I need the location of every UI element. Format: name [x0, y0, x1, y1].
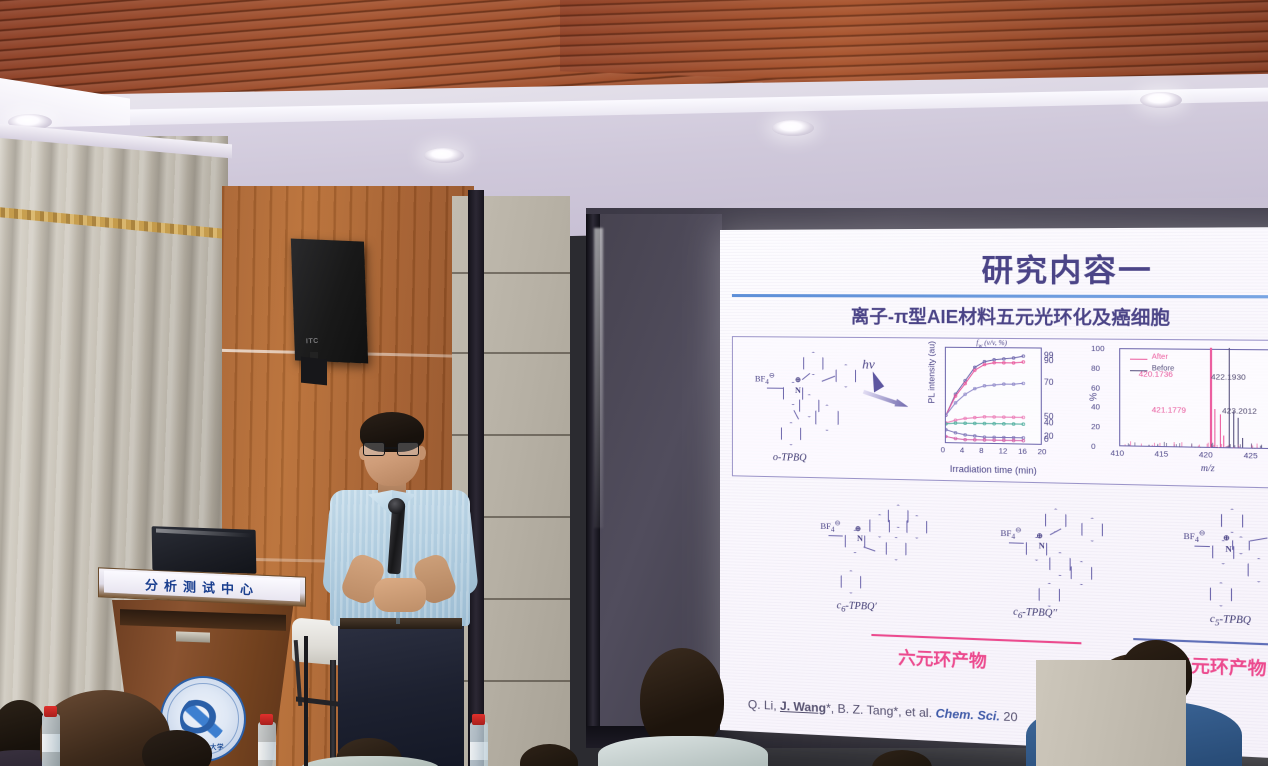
- ms-y-tick: 0: [1091, 442, 1095, 451]
- bottle-label: [42, 734, 60, 752]
- molecule-label-product-3: c5-TPBQ: [1210, 614, 1251, 629]
- glasses-lens-left: [363, 442, 385, 456]
- ms-peak: [1214, 409, 1216, 447]
- bond-link-3: [793, 410, 799, 420]
- pl-series-label: 0: [1044, 435, 1049, 444]
- ms-annotation-421: 421.1779: [1152, 405, 1186, 415]
- counterion-bf4: BF4⊖: [1000, 526, 1021, 542]
- molecule-c6-tpbq-prime: BF4⊖ N ⊕ c6-TPBQ′: [806, 494, 971, 630]
- ms-baseline-noise: [1176, 444, 1177, 446]
- ring-phenyl-bottom: [1039, 583, 1060, 608]
- bottle-cap: [472, 714, 485, 725]
- ms-baseline-noise: [1154, 443, 1155, 446]
- ms-peak: [1233, 412, 1235, 448]
- ms-baseline-noise: [1230, 444, 1231, 447]
- ms-baseline-noise: [1141, 443, 1142, 446]
- wall-dark-recess: [468, 190, 484, 766]
- ms-baseline-noise: [1160, 443, 1161, 446]
- citation: Q. Li, J. Wang*, B. Z. Tang*, et al. Che…: [748, 697, 1018, 724]
- wall-speaker: [291, 238, 368, 363]
- ms-annotation-423: 423.2012: [1222, 406, 1257, 416]
- ms-peak: [1219, 414, 1221, 447]
- molecule-o-tpbq: BF4⊖ N ⊕ o-TPBQ: [739, 341, 908, 477]
- molecule-label-product-2: c6-TPBQ′′: [1013, 606, 1057, 621]
- mic-stand: [304, 636, 308, 766]
- ms-peak: [1210, 348, 1212, 447]
- bond-link: [863, 546, 875, 551]
- ms-baseline-noise: [1254, 447, 1255, 448]
- ms-y-ticks: 020406080100: [1091, 344, 1268, 346]
- bar-stool-pole: [330, 660, 336, 766]
- ms-legend-label: After: [1152, 354, 1168, 361]
- audience-shoulders: [598, 736, 768, 766]
- ms-x-axis-label: m/z: [1119, 461, 1268, 475]
- speaker-wall-mount: [301, 357, 327, 386]
- ms-baseline-noise: [1166, 443, 1167, 446]
- ms-baseline-noise: [1130, 441, 1131, 445]
- presenter-belt: [340, 618, 462, 629]
- ms-y-tick: 20: [1091, 422, 1100, 432]
- pl-x-tick: 8: [979, 446, 983, 455]
- ms-baseline-noise: [1235, 445, 1236, 447]
- citation-authors-a: Q. Li,: [748, 697, 780, 713]
- pl-series-label: 70: [1044, 377, 1054, 386]
- ring-five-membered: [1232, 536, 1250, 554]
- ms-baseline-noise: [1207, 444, 1208, 447]
- ms-baseline-noise: [1125, 444, 1126, 446]
- ms-baseline-noise: [1163, 442, 1164, 446]
- chart-pl-intensity: PL intensity (au) Irradiation time (min)…: [918, 342, 1051, 480]
- pl-x-tick: 4: [960, 445, 964, 454]
- molecule-label-reactant: o-TPBQ: [773, 452, 807, 464]
- ms-x-tick: 420: [1199, 450, 1213, 460]
- ring-fused-a: [869, 514, 890, 538]
- ring-fused-b: [888, 504, 909, 528]
- counterion-bf4: BF4⊖: [1183, 528, 1205, 544]
- ms-baseline-noise: [1181, 442, 1182, 446]
- ring-phenyl-top: [1045, 508, 1066, 532]
- ms-baseline-noise: [1228, 446, 1229, 447]
- citation-year: 20: [1000, 709, 1018, 724]
- ring-fused-right: [1248, 558, 1268, 583]
- bottle-label: [470, 742, 488, 760]
- audience-head: [872, 750, 932, 766]
- ms-annotation-422: 422.1930: [1211, 372, 1246, 382]
- pl-y-axis-label: PL intensity (au): [926, 336, 936, 408]
- ring-phenyl-right: [836, 364, 856, 388]
- pl-series-label: 90: [1044, 356, 1054, 365]
- counterion-bf4: BF4⊖: [755, 371, 775, 386]
- presenter-glasses: [363, 442, 421, 456]
- ms-x-tick: 410: [1111, 448, 1125, 458]
- pl-x-tick: 20: [1038, 447, 1047, 456]
- ms-baseline-noise: [1173, 442, 1174, 446]
- counterion-bf4: BF4⊖: [820, 519, 840, 534]
- ms-annotation-420: 420.1736: [1139, 369, 1173, 379]
- ms-baseline-noise: [1157, 444, 1158, 445]
- led-wall-glare: [594, 228, 603, 528]
- speaker-brand-label: ITC: [306, 338, 319, 345]
- ms-baseline-noise: [1256, 447, 1257, 448]
- lectern-control-plate: [176, 631, 210, 642]
- ms-plot-area: [1119, 348, 1268, 449]
- ring-fused-c: [906, 515, 927, 539]
- pl-x-axis-label: Irradiation time (min): [932, 463, 1054, 476]
- ring-phenyl-right: [1081, 517, 1103, 542]
- ceiling-downlight: [772, 120, 814, 136]
- ms-x-ticks: 410415420425430: [1091, 344, 1268, 346]
- ms-y-tick: 100: [1091, 344, 1104, 353]
- pl-plot-area: [945, 347, 1042, 445]
- bond-link: [1250, 537, 1268, 541]
- ms-baseline-noise: [1191, 443, 1192, 446]
- ring-fused-top: [1221, 508, 1243, 533]
- bond-methyl: [1194, 546, 1209, 548]
- ring-phenyl-bottom: [781, 422, 801, 446]
- ms-x-tick: 415: [1154, 449, 1168, 459]
- ceiling-downlight: [424, 148, 464, 163]
- ms-baseline-noise: [1128, 444, 1129, 446]
- ms-y-axis-label: %: [1088, 393, 1099, 401]
- ms-x-tick: 425: [1244, 451, 1258, 461]
- ms-baseline-noise: [1251, 444, 1252, 448]
- ms-baseline-noise: [1213, 444, 1214, 447]
- ms-baseline-noise: [1261, 445, 1262, 448]
- ms-legend-swatch: [1130, 359, 1147, 361]
- ring-phenyl-bottom: [1210, 582, 1232, 607]
- ring-phenyl-top: [803, 352, 823, 375]
- ms-baseline-noise: [1226, 446, 1227, 447]
- bond-link-1: [802, 373, 811, 380]
- ms-y-tick: 40: [1091, 402, 1100, 412]
- glasses-bridge: [385, 447, 397, 449]
- pl-x-tick: 0: [941, 445, 945, 454]
- slide-subtitle: 离子-π型AIE材料五元光环化及癌细胞: [851, 302, 1268, 331]
- ms-y-tick: 80: [1091, 363, 1100, 372]
- slide-title: 研究内容一: [982, 244, 1268, 291]
- ring-fused-b: [1071, 561, 1092, 586]
- ms-peak: [1228, 348, 1230, 447]
- ms-peak: [1242, 438, 1244, 448]
- ms-baseline-noise: [1221, 444, 1222, 447]
- pl-legend-title: fw (v/v, %): [976, 339, 1007, 350]
- ms-baseline-noise: [1152, 445, 1153, 446]
- pl-x-tick: 16: [1018, 447, 1027, 456]
- molecule-label-product-1: c6-TPBQ′: [837, 600, 877, 615]
- bond-methyl: [767, 388, 783, 390]
- citation-journal: Chem. Sci.: [936, 706, 1000, 723]
- ms-baseline-noise: [1148, 444, 1149, 445]
- ring-fused-d: [886, 537, 907, 561]
- conference-room-photo: ITC 研究内容一 离子-π型AIE材料五元光环化及癌细胞 BF4⊖ N ⊕: [0, 0, 1268, 766]
- bottle-cap: [44, 706, 57, 717]
- ring-pyridinium: [1212, 540, 1234, 565]
- wall-panel-lower-right: [1036, 660, 1186, 766]
- ring-fused-a: [1049, 552, 1070, 577]
- ms-legend: AfterBefore: [1091, 344, 1268, 346]
- microphone-capsule: [388, 498, 405, 514]
- molecule-c6-tpbq-double-prime: BF4⊖ N ⊕ c6-TPBQ′′: [988, 498, 1160, 636]
- chart-mass-spectrum: % m/z 020406080100 410415420425430 After…: [1091, 344, 1268, 486]
- glasses-lens-right: [397, 442, 419, 456]
- citation-corresponding-author: J. Wang: [780, 699, 826, 715]
- bottle-label: [258, 742, 276, 760]
- pl-series-label: 40: [1044, 418, 1054, 427]
- group-label-six-membered: 六元环产物: [898, 643, 987, 672]
- figure-panel: BF4⊖ N ⊕ o-TPBQ hv: [732, 336, 1268, 489]
- pl-x-tick: 12: [999, 446, 1008, 455]
- ceiling-downlight: [1140, 92, 1182, 108]
- ms-baseline-noise: [1134, 442, 1135, 446]
- bond-link-2: [822, 376, 836, 382]
- presenter-hands: [374, 578, 426, 612]
- ms-baseline-noise: [1239, 446, 1240, 447]
- citation-authors-c: *, B. Z. Tang*, et al.: [826, 701, 936, 720]
- slide-title-rule: [732, 294, 1268, 298]
- molecule-c5-tpbq: BF4⊖ N ⊕ c5-TPBQ: [1168, 499, 1268, 642]
- charge-plus: ⊕: [795, 376, 801, 384]
- ms-baseline-noise: [1195, 446, 1196, 447]
- hv-label: hv: [862, 356, 875, 372]
- bond-methyl: [1009, 542, 1024, 544]
- bottle-cap: [260, 714, 273, 725]
- ring-phenyl: [841, 570, 861, 594]
- ms-baseline-noise: [1199, 444, 1200, 446]
- ms-y-tick: 60: [1091, 383, 1100, 392]
- bond-methyl: [828, 535, 842, 537]
